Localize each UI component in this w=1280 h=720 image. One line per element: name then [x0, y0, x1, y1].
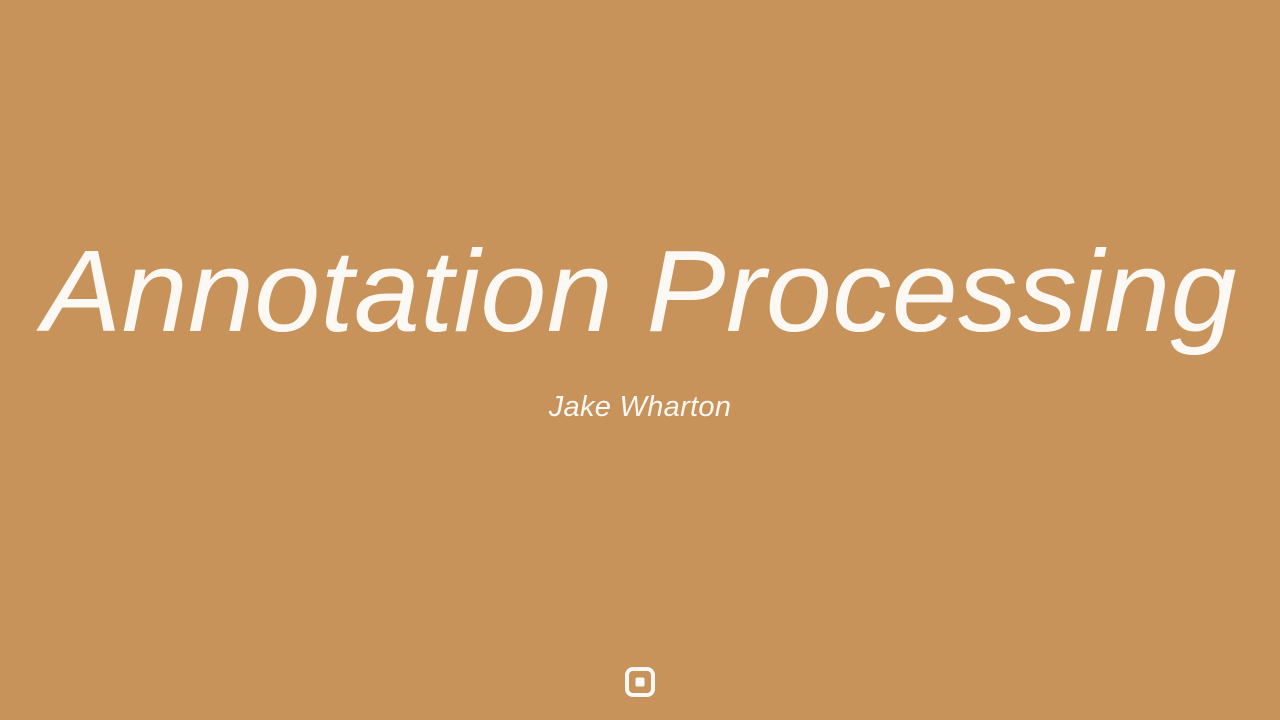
presenter-name: Jake Wharton [549, 393, 732, 422]
title-block: Annotation Processing Jake Wharton [0, 0, 1280, 720]
square-logo-icon [625, 667, 655, 697]
square-logo-inner-square [636, 678, 645, 687]
title-slide: Annotation Processing Jake Wharton [0, 0, 1280, 720]
page-title: Annotation Processing [43, 233, 1238, 349]
square-logo [625, 667, 655, 697]
